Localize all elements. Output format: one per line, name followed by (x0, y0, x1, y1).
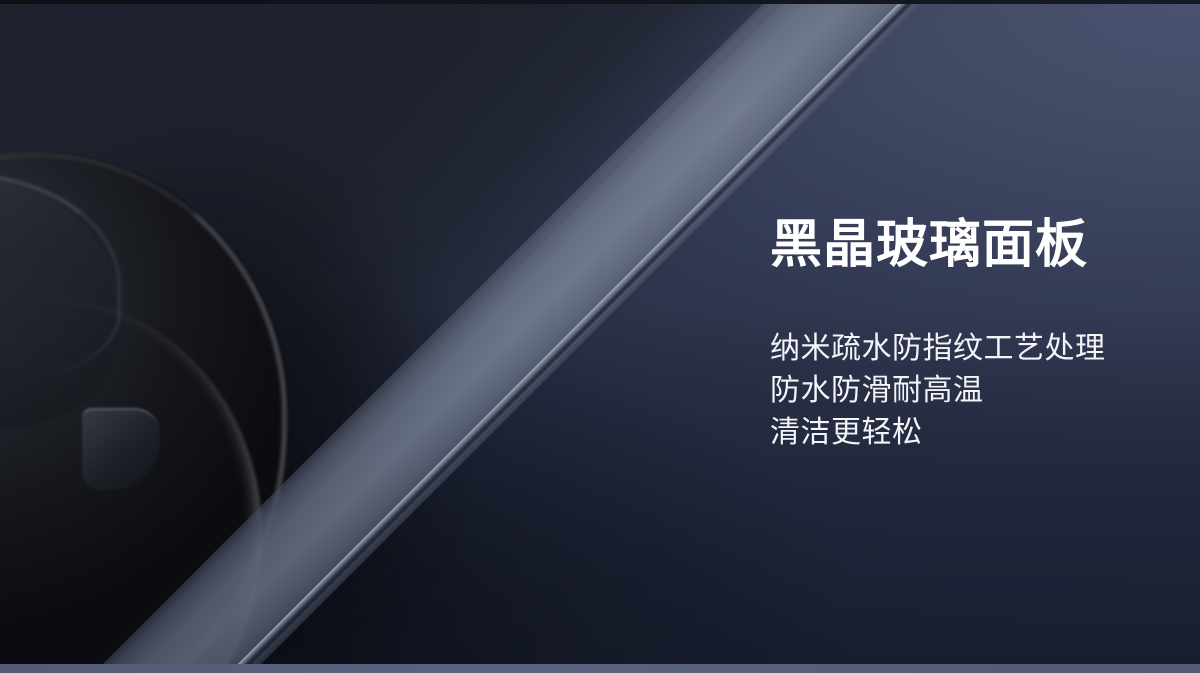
subcopy-line-1: 纳米疏水防指纹工艺处理 (770, 328, 1170, 370)
bottom-trim-bar (0, 664, 1200, 673)
headline: 黑晶玻璃面板 (770, 214, 1170, 276)
top-trim-bar (0, 0, 1200, 4)
product-feature-banner: 黑晶玻璃面板 纳米疏水防指纹工艺处理 防水防滑耐高温 清洁更轻松 (0, 0, 1200, 673)
subcopy-line-3: 清洁更轻松 (770, 412, 1170, 454)
copy-block: 黑晶玻璃面板 纳米疏水防指纹工艺处理 防水防滑耐高温 清洁更轻松 (770, 214, 1170, 454)
subcopy-block: 纳米疏水防指纹工艺处理 防水防滑耐高温 清洁更轻松 (770, 276, 1170, 454)
subcopy-line-2: 防水防滑耐高温 (770, 370, 1170, 412)
